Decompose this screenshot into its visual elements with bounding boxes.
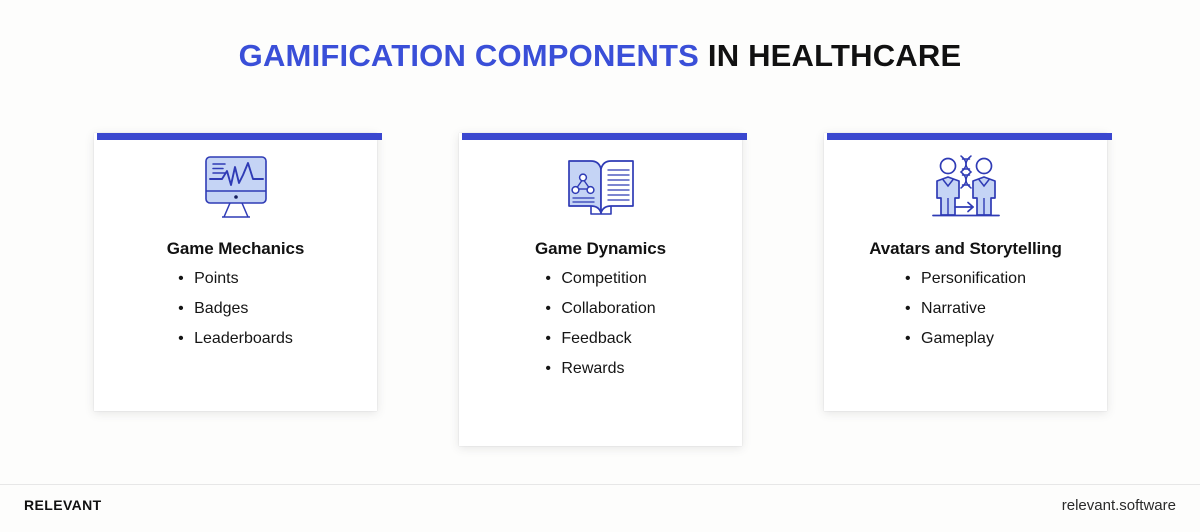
card-accent-bar (827, 133, 1112, 140)
avatars-dna-icon (824, 147, 1107, 233)
card-bullet-list: •Points •Badges •Leaderboards (94, 271, 377, 361)
list-item: •Rewards (545, 361, 655, 391)
list-item-label: Gameplay (921, 330, 994, 347)
list-item: •Collaboration (545, 301, 655, 331)
list-item: •Points (178, 271, 293, 301)
bullet-marker: • (178, 271, 194, 287)
bullet-marker: • (905, 301, 921, 317)
monitor-chart-icon (94, 147, 377, 233)
list-item-label: Personification (921, 270, 1026, 287)
card-accent-bar (97, 133, 382, 140)
footer: RELEVANT relevant.software (0, 484, 1200, 532)
list-item-label: Narrative (921, 300, 986, 317)
list-item-label: Leaderboards (194, 330, 293, 347)
card-game-mechanics: Game Mechanics •Points •Badges •Leaderbo… (94, 133, 377, 411)
bullet-marker: • (545, 361, 561, 377)
page-title-plain: IN HEALTHCARE (699, 38, 961, 73)
list-item: •Personification (905, 271, 1026, 301)
website-url: relevant.software (1062, 497, 1176, 514)
list-item-label: Points (194, 270, 238, 287)
footer-divider (0, 484, 1200, 485)
card-bullet-list: •Competition •Collaboration •Feedback •R… (459, 271, 742, 391)
list-item-label: Badges (194, 300, 248, 317)
card-avatars-storytelling: Avatars and Storytelling •Personificatio… (824, 133, 1107, 411)
page-title-accent: GAMIFICATION COMPONENTS (239, 38, 699, 73)
brand-logo: RELEVANT (24, 497, 102, 513)
list-item-label: Competition (561, 270, 646, 287)
list-item: •Leaderboards (178, 331, 293, 361)
card-heading: Game Dynamics (459, 239, 742, 259)
list-item-label: Rewards (561, 360, 624, 377)
list-item: •Narrative (905, 301, 1026, 331)
card-heading: Game Mechanics (94, 239, 377, 259)
list-item-label: Feedback (561, 330, 631, 347)
card-accent-bar (462, 133, 747, 140)
bullet-marker: • (545, 331, 561, 347)
list-item: •Competition (545, 271, 655, 301)
list-item: •Feedback (545, 331, 655, 361)
card-bullet-list: •Personification •Narrative •Gameplay (824, 271, 1107, 361)
page-title: GAMIFICATION COMPONENTS IN HEALTHCARE (0, 40, 1200, 71)
card-game-dynamics: Game Dynamics •Competition •Collaboratio… (459, 133, 742, 446)
list-item: •Gameplay (905, 331, 1026, 361)
bullet-marker: • (178, 301, 194, 317)
bullet-marker: • (178, 331, 194, 347)
card-heading: Avatars and Storytelling (824, 239, 1107, 259)
card-row: Game Mechanics •Points •Badges •Leaderbo… (0, 133, 1200, 463)
list-item: •Badges (178, 301, 293, 331)
open-book-network-icon (459, 147, 742, 233)
bullet-marker: • (545, 301, 561, 317)
bullet-marker: • (545, 271, 561, 287)
bullet-marker: • (905, 271, 921, 287)
list-item-label: Collaboration (561, 300, 655, 317)
bullet-marker: • (905, 331, 921, 347)
